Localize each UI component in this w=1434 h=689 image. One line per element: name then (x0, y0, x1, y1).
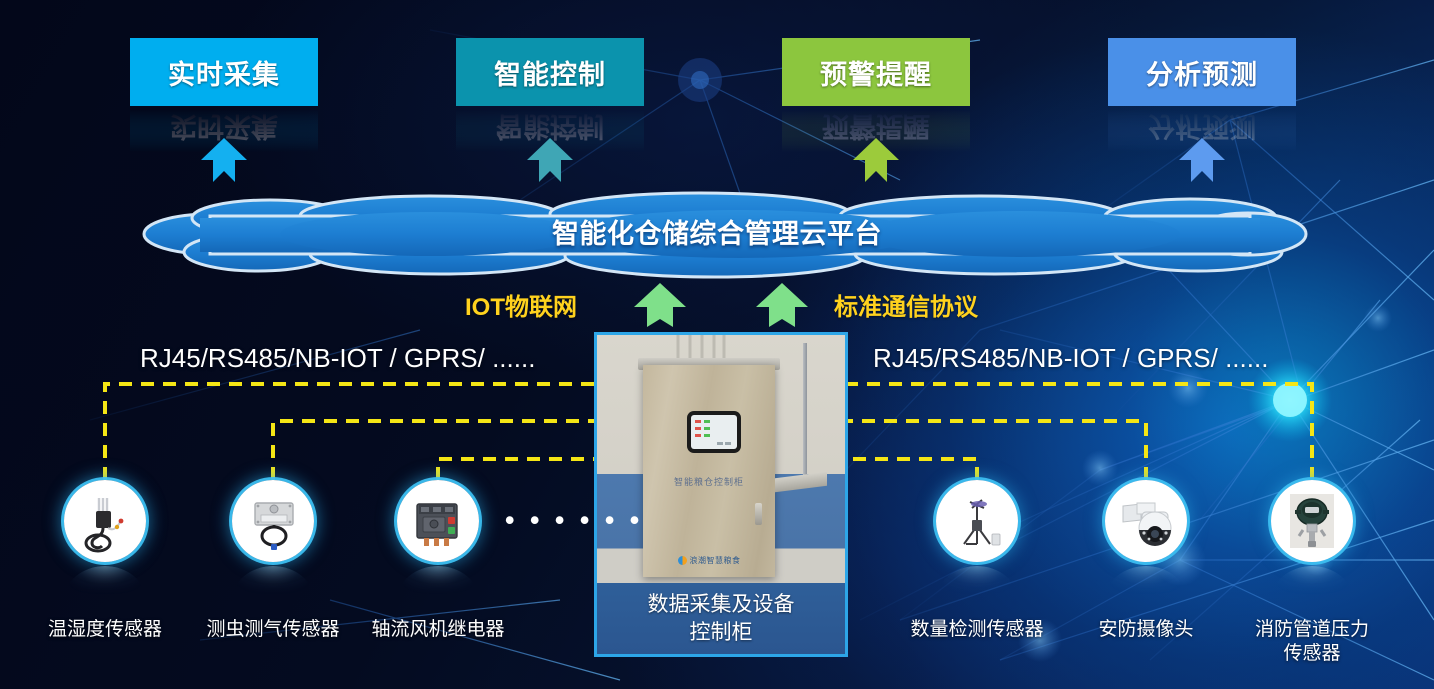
more-devices-ellipsis-left: • • • • • • (505, 505, 643, 536)
device-node-reflection (232, 566, 314, 600)
uplink-arrow-right (756, 283, 808, 327)
capability-arrow-2 (853, 138, 899, 182)
device-node-reflection (64, 566, 146, 600)
cabinet-pole (803, 343, 807, 483)
cabinet-brand: 浪潮智慧粮食 (643, 555, 775, 566)
bus-text-right: RJ45/RS485/NB-IOT / GPRS/ ...... (873, 343, 1268, 374)
device-node-reflection (1271, 566, 1353, 600)
cabinet-handle (755, 503, 762, 525)
capability-label: 预警提醒 (820, 53, 932, 92)
cabinet-caption: 数据采集及设备 控制柜 (597, 583, 845, 654)
device-node-reflection (397, 566, 479, 600)
cabinet-rail (775, 472, 827, 492)
cabinet-touchscreen (687, 411, 741, 453)
device-label-fire-pipe-pressure-sensor: 消防管道压力 传感器 (1222, 618, 1402, 667)
capability-box-0[interactable]: 实时采集 实时采集 (130, 38, 318, 106)
security-camera-icon (1111, 486, 1181, 556)
iot-label: IOT物联网 (465, 287, 577, 322)
protocol-label: 标准通信协议 (834, 287, 978, 322)
capability-arrow-1 (527, 138, 573, 182)
control-cabinet-card[interactable]: 智能粮仓控制柜 浪潮智慧粮食 数据采集及设备 控制柜 (594, 332, 848, 657)
uplink-arrow-left (634, 283, 686, 327)
quantity-detection-sensor-icon (942, 486, 1012, 556)
brand-text: 浪潮智慧粮食 (690, 555, 741, 566)
axial-fan-relay-icon (403, 486, 473, 556)
capability-box-3[interactable]: 分析预测 分析预测 (1108, 38, 1296, 106)
temperature-humidity-sensor-icon (70, 486, 140, 556)
device-label-axial-fan-relay: 轴流风机继电器 (348, 618, 528, 642)
device-node-security-camera[interactable] (1105, 480, 1187, 562)
cabinet-panel-text: 智能粮仓控制柜 (643, 475, 775, 488)
capability-box-2[interactable]: 预警提醒 预警提醒 (782, 38, 970, 106)
insect-gas-sensor-icon (238, 486, 308, 556)
cabinet-body (643, 365, 775, 577)
device-node-temperature-humidity-sensor[interactable] (64, 480, 146, 562)
device-node-quantity-detection-sensor[interactable] (936, 480, 1018, 562)
control-cabinet-photo: 智能粮仓控制柜 浪潮智慧粮食 (597, 335, 845, 583)
capability-label: 智能控制 (494, 53, 606, 92)
capability-label: 实时采集 (168, 53, 280, 92)
capability-box-1[interactable]: 智能控制 智能控制 (456, 38, 644, 106)
device-label-temperature-humidity-sensor: 温湿度传感器 (15, 618, 195, 642)
device-node-reflection (1105, 566, 1187, 600)
device-node-fire-pipe-pressure-sensor[interactable] (1271, 480, 1353, 562)
platform-title: 智能化仓储综合管理云平台 (0, 212, 1434, 251)
fire-pipe-pressure-sensor-icon (1277, 486, 1347, 556)
capability-arrow-0 (201, 138, 247, 182)
diagram-canvas: 实时采集 实时采集 智能控制 智能控制 预警提醒 预警提醒 分析预测 分析预测 (0, 0, 1434, 689)
cabinet-pipes-icon (672, 335, 728, 359)
brand-logo-icon (678, 556, 687, 565)
bus-text-left: RJ45/RS485/NB-IOT / GPRS/ ...... (140, 343, 535, 374)
device-label-security-camera: 安防摄像头 (1056, 618, 1236, 642)
device-node-reflection (936, 566, 1018, 600)
device-node-insect-gas-sensor[interactable] (232, 480, 314, 562)
capability-label: 分析预测 (1146, 53, 1258, 92)
device-label-quantity-detection-sensor: 数量检测传感器 (887, 618, 1067, 642)
device-label-insect-gas-sensor: 测虫测气传感器 (183, 618, 363, 642)
capability-arrow-3 (1179, 138, 1225, 182)
device-node-axial-fan-relay[interactable] (397, 480, 479, 562)
